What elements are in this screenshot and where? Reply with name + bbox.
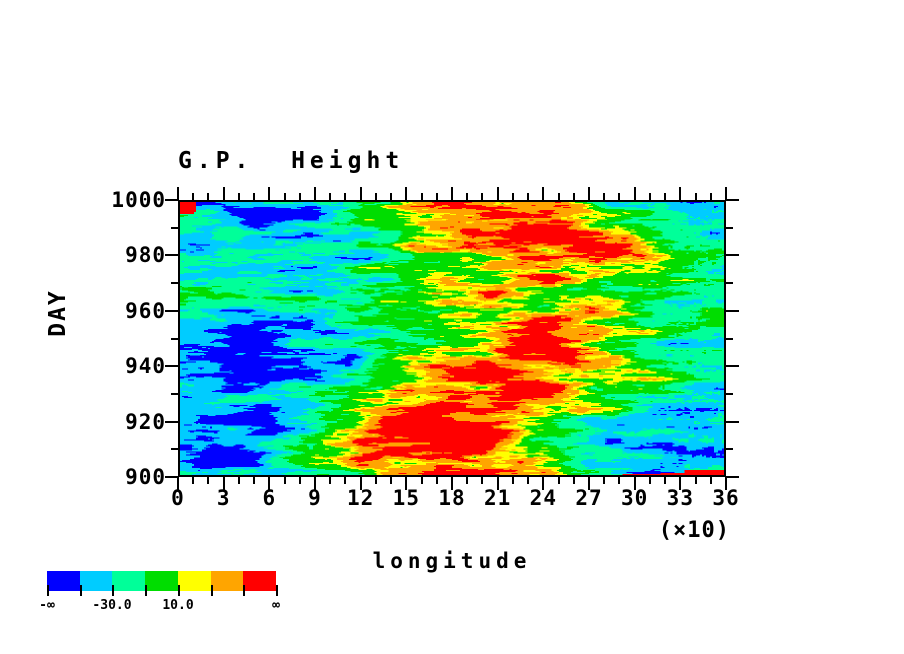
x-axis-tick <box>466 477 468 484</box>
x-axis-tick-label: 36 <box>712 487 739 509</box>
colorbar-tick <box>211 585 213 596</box>
x-axis-tick <box>695 477 697 484</box>
y-axis-tick-right <box>726 310 739 312</box>
x-axis-tick-top <box>405 187 407 200</box>
colorbar: -∞-30.010.0∞ <box>47 571 276 631</box>
x-axis-tick-top <box>588 187 590 200</box>
x-axis-tick <box>481 477 483 484</box>
x-axis-tick-label: 0 <box>171 487 185 509</box>
colorbar-label: ∞ <box>272 598 280 613</box>
x-axis-tick <box>329 477 331 484</box>
x-axis-tick-label: 3 <box>217 487 231 509</box>
heatmap-plot-area <box>178 200 726 477</box>
colorbar-swatch <box>178 571 211 591</box>
y-axis-tick <box>171 338 178 340</box>
figure-canvas: G.P. Height DAY longitude (×10) 03691215… <box>0 0 904 654</box>
y-axis-tick <box>171 393 178 395</box>
x-axis-tick <box>390 477 392 484</box>
x-axis-tick-top <box>268 187 270 200</box>
y-axis-tick <box>165 476 178 478</box>
y-axis-tick <box>165 199 178 201</box>
x-axis-tick-top <box>542 187 544 200</box>
x-axis-tick-top <box>436 193 438 200</box>
y-axis-tick-right <box>726 199 739 201</box>
y-axis-tick-label: 980 <box>58 244 166 266</box>
y-axis-tick <box>171 282 178 284</box>
x-axis-tick-top <box>695 193 697 200</box>
y-axis-tick <box>171 227 178 229</box>
x-axis-tick-top <box>512 193 514 200</box>
x-axis-tick-top <box>238 193 240 200</box>
colorbar-tick <box>178 585 180 596</box>
y-axis-tick-label: 1000 <box>58 189 166 211</box>
x-axis-tick-top <box>649 193 651 200</box>
y-axis-tick-right <box>726 476 739 478</box>
x-axis-tick-top <box>558 193 560 200</box>
x-axis-tick-label: 21 <box>484 487 511 509</box>
x-axis-tick-top <box>710 193 712 200</box>
x-axis-tick-label: 12 <box>347 487 374 509</box>
y-axis-tick-right <box>726 282 733 284</box>
y-axis-tick-label: 920 <box>58 411 166 433</box>
colorbar-swatch <box>211 571 244 591</box>
x-axis-tick-top <box>329 193 331 200</box>
colorbar-tick <box>243 585 245 596</box>
x-axis-tick-label: 30 <box>621 487 648 509</box>
x-axis-tick <box>573 477 575 484</box>
y-axis-tick <box>165 421 178 423</box>
colorbar-tick <box>112 585 114 596</box>
x-axis-tick-label: 18 <box>438 487 465 509</box>
x-axis-tick-top <box>421 193 423 200</box>
colorbar-swatch <box>80 571 113 591</box>
colorbar-tick <box>47 585 49 596</box>
x-axis-tick-top <box>314 187 316 200</box>
x-axis-tick <box>558 477 560 484</box>
x-axis-tick-top <box>679 187 681 200</box>
y-axis-tick <box>165 365 178 367</box>
x-axis-tick-top <box>299 193 301 200</box>
colorbar-swatch <box>112 571 145 591</box>
x-axis-tick <box>421 477 423 484</box>
colorbar-swatch <box>145 571 178 591</box>
x-axis-tick <box>192 477 194 484</box>
x-axis-tick <box>375 477 377 484</box>
x-axis-tick <box>436 477 438 484</box>
page-title: G.P. Height <box>178 146 404 176</box>
x-axis-tick-top <box>390 193 392 200</box>
x-axis-tick-label: 15 <box>393 487 420 509</box>
x-axis-tick-top <box>603 193 605 200</box>
x-axis-tick-top <box>207 193 209 200</box>
x-axis-tick-top <box>466 193 468 200</box>
x-axis-tick-top <box>451 187 453 200</box>
x-axis-tick <box>512 477 514 484</box>
y-axis-tick-label: 960 <box>58 300 166 322</box>
x-axis-tick <box>603 477 605 484</box>
x-axis-tick <box>527 477 529 484</box>
x-axis-tick-top <box>573 193 575 200</box>
x-axis-tick <box>664 477 666 484</box>
x-axis-tick <box>344 477 346 484</box>
y-axis-tick-right <box>726 227 733 229</box>
x-axis-tick-label: 27 <box>575 487 602 509</box>
y-axis-tick-right <box>726 421 739 423</box>
colorbar-label: -∞ <box>39 598 55 613</box>
x-axis-tick <box>238 477 240 484</box>
y-axis-tick-right <box>726 448 733 450</box>
x-axis-tick-top <box>618 193 620 200</box>
x-axis-tick-top <box>664 193 666 200</box>
x-axis-title: longitude <box>178 549 726 573</box>
x-axis-tick <box>284 477 286 484</box>
colorbar-swatch <box>243 571 276 591</box>
x-axis-tick-label: 6 <box>263 487 277 509</box>
x-axis-tick-top <box>223 187 225 200</box>
x-axis-tick <box>618 477 620 484</box>
x-axis-multiplier-note: (×10) <box>560 518 730 543</box>
y-axis-tick-right <box>726 393 733 395</box>
heatmap-image <box>180 202 724 475</box>
colorbar-tick <box>80 585 82 596</box>
x-axis-tick-top <box>284 193 286 200</box>
x-axis-tick <box>253 477 255 484</box>
colorbar-tick <box>145 585 147 596</box>
x-axis-tick-label: 9 <box>308 487 322 509</box>
x-axis-tick-top <box>192 193 194 200</box>
x-axis-tick-top <box>527 193 529 200</box>
x-axis-tick-top <box>375 193 377 200</box>
x-axis-tick-label: 24 <box>530 487 557 509</box>
colorbar-label: 10.0 <box>162 598 193 613</box>
x-axis-tick-top <box>253 193 255 200</box>
x-axis-tick <box>649 477 651 484</box>
x-axis-tick-top <box>634 187 636 200</box>
x-axis-tick-top <box>344 193 346 200</box>
colorbar-label: -30.0 <box>92 598 131 613</box>
y-axis-tick-label: 900 <box>58 466 166 488</box>
y-axis-tick-right <box>726 365 739 367</box>
y-axis-tick-right <box>726 338 733 340</box>
y-axis-tick <box>171 448 178 450</box>
x-axis-tick <box>299 477 301 484</box>
x-axis-tick-top <box>360 187 362 200</box>
x-axis-tick <box>207 477 209 484</box>
y-axis-tick-right <box>726 254 739 256</box>
x-axis-tick <box>710 477 712 484</box>
y-axis-tick-label: 940 <box>58 355 166 377</box>
x-axis-tick-top <box>497 187 499 200</box>
x-axis-tick-label: 33 <box>667 487 694 509</box>
y-axis-tick <box>165 310 178 312</box>
x-axis-tick-top <box>481 193 483 200</box>
colorbar-tick <box>276 585 278 596</box>
y-axis-tick <box>165 254 178 256</box>
colorbar-swatch <box>47 571 80 591</box>
